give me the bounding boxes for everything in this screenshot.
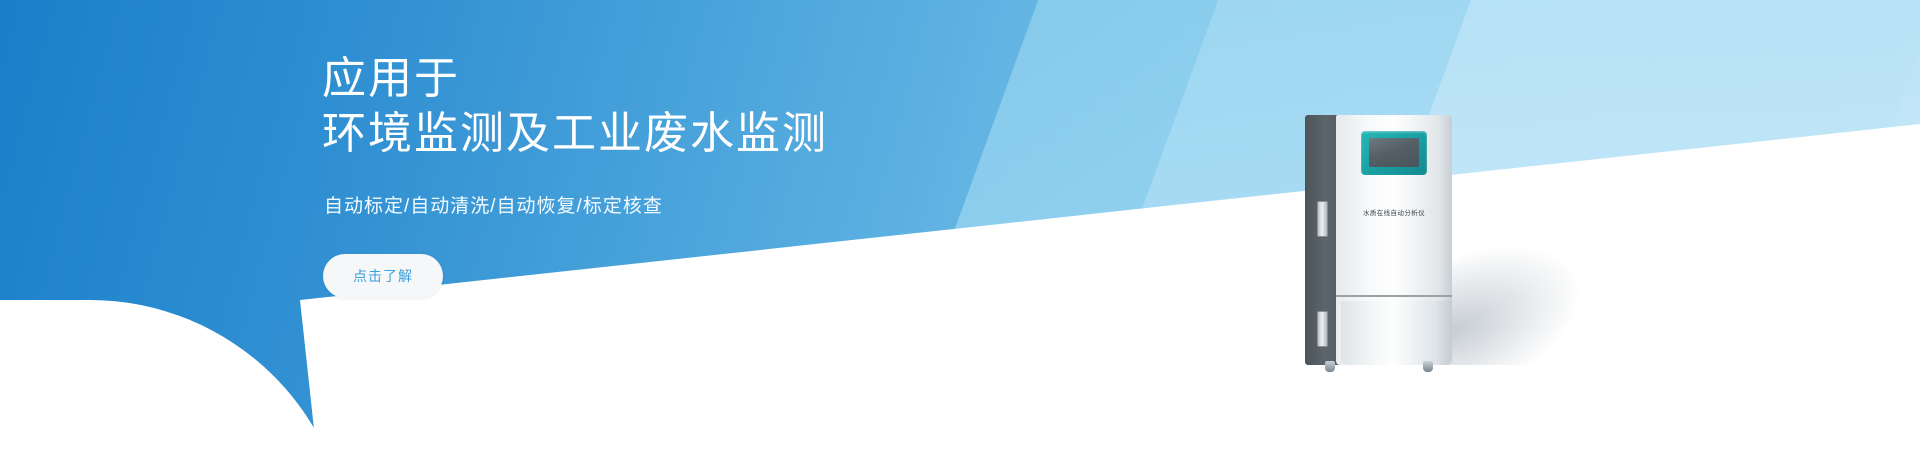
page-title: 应用于环境监测及工业废水监测 [322,52,1022,161]
hero-copy-block: 应用于环境监测及工业废水监测 自动标定/自动清洗/自动恢复/标定核查 点击了解 [322,52,1022,298]
caster-wheel-icon-right [1423,361,1433,372]
door-handle-icon-upper [1317,201,1328,237]
caster-wheel-icon-left [1325,361,1335,372]
product-image-analyzer: 水质在线自动分析仪 [1305,115,1455,365]
headline-line-2: 环境监测及工业废水监测 [322,109,828,158]
screen-icon [1361,131,1427,175]
door-handle-icon-lower [1317,311,1328,347]
hero-subtitle: 自动标定/自动清洗/自动恢复/标定核查 [324,191,1022,218]
analyzer-lower-cabinet [1341,301,1452,365]
headline-line-1: 应用于 [322,54,460,103]
hero-banner: 应用于环境监测及工业废水监测 自动标定/自动清洗/自动恢复/标定核查 点击了解 … [0,0,1920,450]
analyzer-display [1369,138,1419,167]
learn-more-button[interactable]: 点击了解 [323,254,443,298]
product-label: 水质在线自动分析仪 [1336,207,1452,217]
